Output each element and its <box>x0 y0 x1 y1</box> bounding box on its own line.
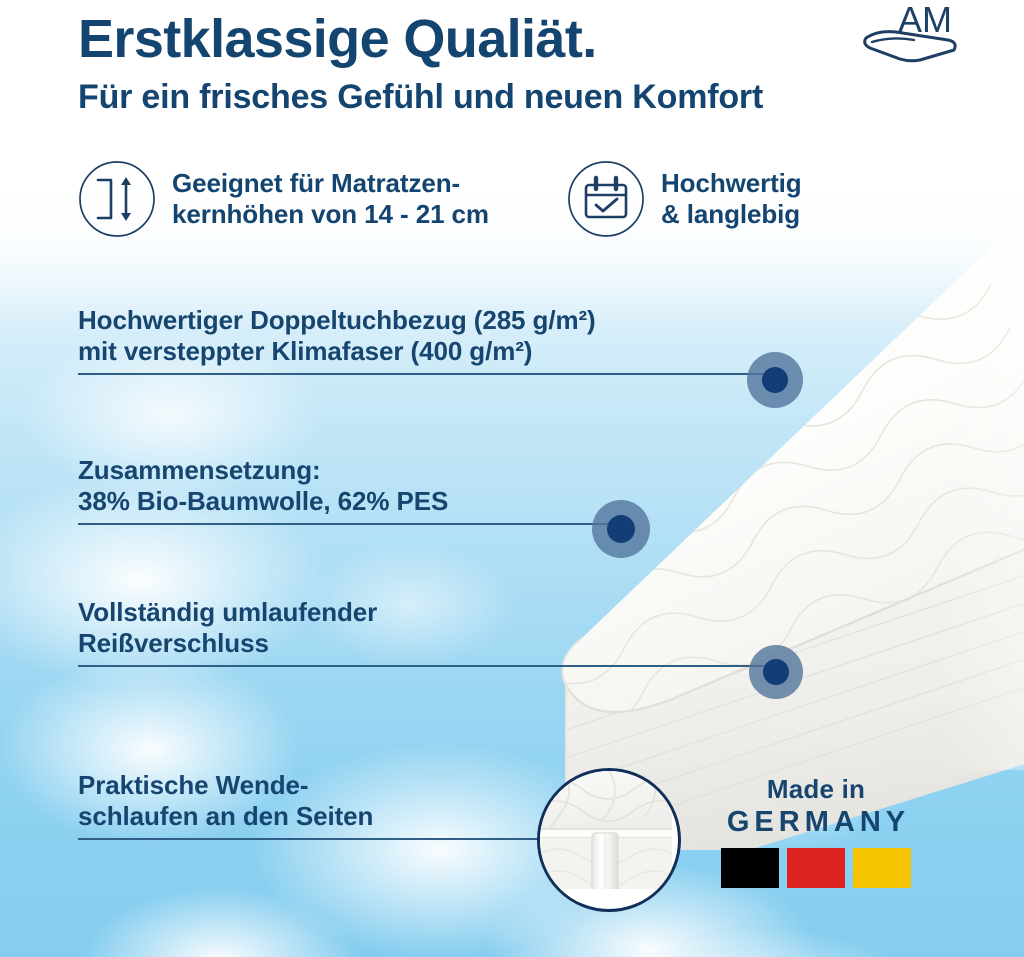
callout-cover: Hochwertiger Doppeltuchbezug (285 g/m²) … <box>78 305 768 375</box>
callout-connector-line <box>78 838 548 840</box>
callout-handles: Praktische Wende- schlaufen an den Seite… <box>78 770 548 840</box>
callout-label: Vollständig umlaufender Reißverschluss <box>78 597 768 659</box>
feature-badge-durability: Hochwertig & langlebig <box>567 160 802 238</box>
flag-band-gold <box>853 848 911 888</box>
page-subtitle: Für ein frisches Gefühl und neuen Komfor… <box>78 78 763 117</box>
marker-dot-zipper <box>749 645 803 699</box>
callout-connector-line <box>78 665 768 667</box>
made-in-germany-badge: Made in GERMANY <box>716 775 916 888</box>
feature-badge-label: Hochwertig & langlebig <box>661 168 802 229</box>
marker-dot-composition <box>592 500 650 558</box>
germany-label: GERMANY <box>716 806 916 839</box>
flag-band-black <box>721 848 779 888</box>
callout-label: Praktische Wende- schlaufen an den Seite… <box>78 770 548 832</box>
feature-badge-mattress-height: Geeignet für Matratzen- kernhöhen von 14… <box>78 160 489 238</box>
marker-dot-cover <box>747 352 803 408</box>
calendar-check-icon <box>567 160 645 238</box>
detail-photo-handle <box>537 768 681 912</box>
logo-text: AM <box>898 2 952 40</box>
flag-band-red <box>787 848 845 888</box>
feature-badges: Geeignet für Matratzen- kernhöhen von 14… <box>78 160 958 252</box>
callout-connector-line <box>78 373 768 375</box>
feature-badge-label: Geeignet für Matratzen- kernhöhen von 14… <box>172 168 489 229</box>
german-flag <box>716 848 916 888</box>
page-title: Erstklassige Qualiät. <box>78 8 597 70</box>
callout-label: Zusammensetzung: 38% Bio-Baumwolle, 62% … <box>78 455 618 517</box>
callout-connector-line <box>78 523 618 525</box>
callout-composition: Zusammensetzung: 38% Bio-Baumwolle, 62% … <box>78 455 618 525</box>
callout-label: Hochwertiger Doppeltuchbezug (285 g/m²) … <box>78 305 768 367</box>
brand-logo[interactable]: AM <box>862 2 972 64</box>
callout-zipper: Vollständig umlaufender Reißverschluss <box>78 597 768 667</box>
mattress-height-arrow-icon <box>78 160 156 238</box>
product-infographic: Erstklassige Qualiät. Für ein frisches G… <box>0 0 1024 957</box>
made-in-label: Made in <box>716 775 916 804</box>
